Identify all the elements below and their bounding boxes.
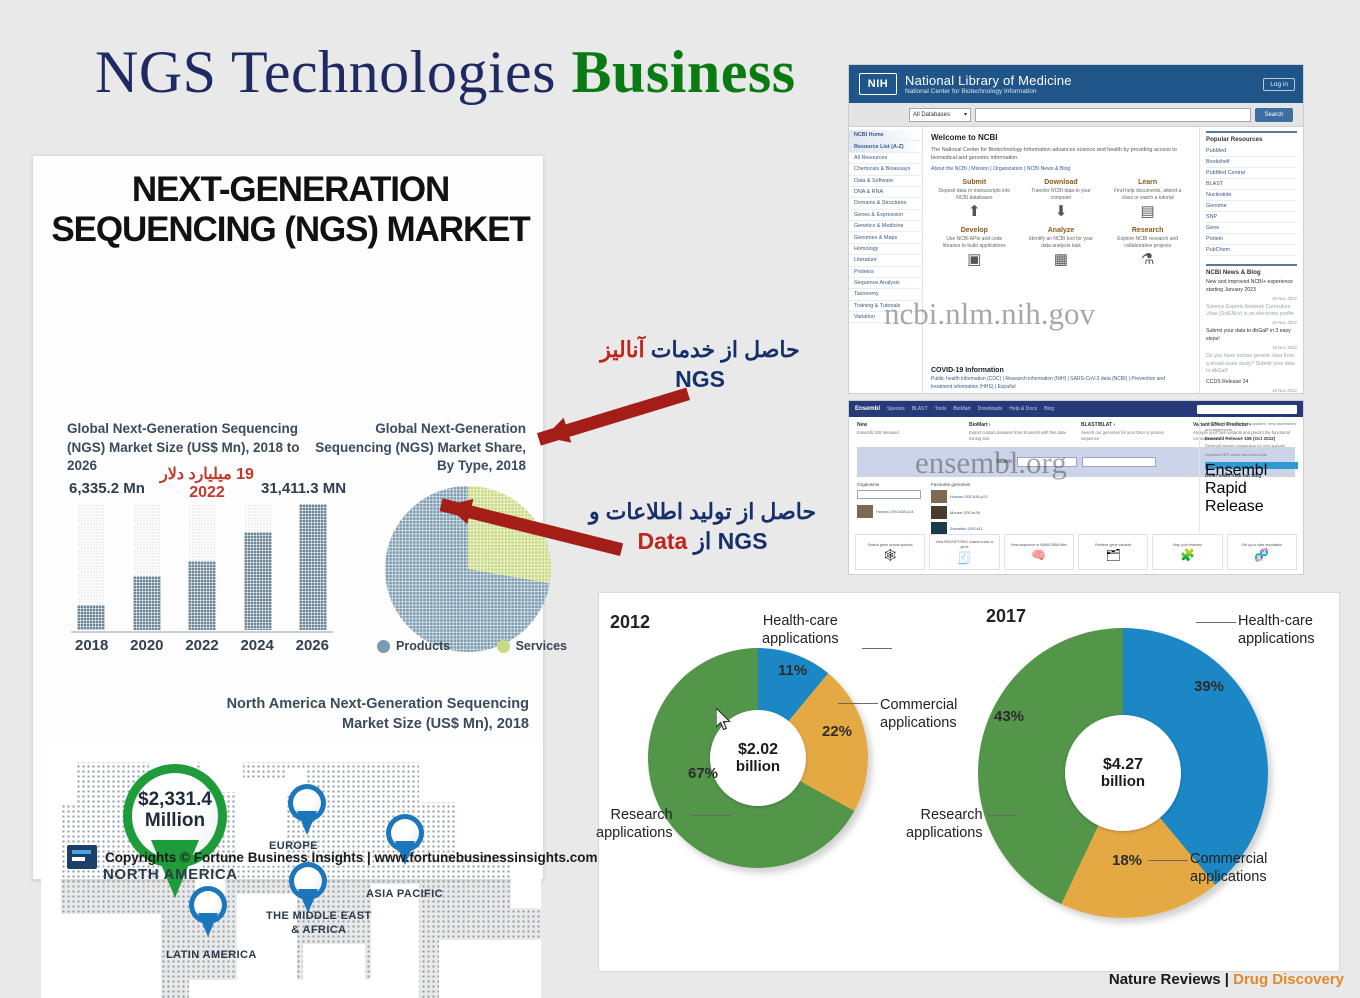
- pin-tip-icon: [198, 913, 218, 937]
- pie-chart-subtitle: Global Next-Generation Sequencing (NGS) …: [301, 420, 526, 476]
- ncbi-action-grid: Submit Deposit data or manuscripts into …: [931, 179, 1191, 275]
- pin-tip-icon: [297, 811, 317, 835]
- pie-2017-leader-research: [986, 815, 1016, 816]
- favourite-label: Zebrafish GRCz11: [950, 526, 983, 531]
- col-heading: New: [857, 422, 959, 428]
- nih-logo-icon: NIH: [859, 73, 897, 95]
- map-pin-europe: [288, 784, 326, 836]
- ncbi-covid-section: COVID-19 Information Public health infor…: [931, 367, 1185, 391]
- x-label-2022: 2022: [185, 637, 218, 654]
- pie-2012-research-pct: 67%: [688, 765, 718, 782]
- slide-root: NGS Technologies Business NEXT-GENERATIO…: [0, 0, 1360, 998]
- card-title: Get up-to-date annotation: [1239, 543, 1284, 548]
- ensembl-species-panel: Organisms Human GRCh38.p13: [857, 482, 921, 526]
- mouse-cursor-icon: [716, 708, 732, 732]
- ensembl-card[interactable]: Get up-to-date annotation 🧬: [1227, 534, 1297, 570]
- species-thumbnail-icon: [857, 505, 873, 518]
- pie-2012-leader-research: [690, 815, 732, 816]
- card-title: Search gene across species: [866, 543, 915, 548]
- source-journal: Nature Reviews |: [1109, 971, 1233, 988]
- ensembl-card[interactable]: Search gene across species 🕸: [855, 534, 925, 570]
- chevron-down-icon: ▾: [964, 111, 967, 118]
- network-icon: 🕸: [883, 549, 898, 561]
- bar-2022: [188, 504, 216, 630]
- book-icon: ▤: [1104, 204, 1191, 219]
- ensembl-card[interactable]: View BED/GFF/WIG custom track or gene 🧾: [929, 534, 999, 570]
- popular-item-nucleotide[interactable]: Nucleotide: [1206, 190, 1297, 201]
- covid-links[interactable]: Public health information (CDC) | Resear…: [931, 376, 1185, 391]
- ncbi-action-download[interactable]: Download Transfer NCBI data to your comp…: [1018, 179, 1105, 219]
- bar-fill: [77, 605, 105, 630]
- news-item[interactable]: New and improved NCBI+ experience starti…: [1206, 279, 1297, 295]
- bar-fill: [133, 576, 161, 630]
- map-pin-latin-america: [189, 886, 227, 938]
- ensembl-menu-species[interactable]: Species: [887, 406, 905, 412]
- sidebar-item-genomes-maps[interactable]: Genomes & Maps: [849, 232, 922, 243]
- action-desc: Use NCBI APIs and code libraries to buil…: [931, 236, 1018, 250]
- col-body: Ensembl 108 released: [857, 430, 959, 436]
- x-label-2026: 2026: [296, 637, 329, 654]
- pie-2012-healthcare-pct: 11%: [778, 662, 807, 679]
- action-title: Analyze: [1018, 227, 1105, 234]
- pie-2012-callout-research: Research applications: [596, 806, 673, 842]
- ncbi-action-develop[interactable]: Develop Use NCBI APIs and code libraries…: [931, 227, 1018, 267]
- region-label-latin-america: LATIN AMERICA: [166, 949, 257, 963]
- popular-item-blast[interactable]: BLAST: [1206, 179, 1297, 190]
- sidebar-item-chemicals-bioassays[interactable]: Chemicals & Bioassays: [849, 164, 922, 175]
- pie-2012-commercial-pct: 22%: [822, 723, 852, 740]
- popular-item-genome[interactable]: Genome: [1206, 201, 1297, 212]
- market-size-bar-chart: [77, 504, 327, 630]
- arrow-head-icon: [541, 418, 572, 450]
- pie-2012-callout-commercial: Commercial applications: [880, 696, 957, 732]
- code-icon: ▣: [931, 252, 1018, 267]
- annotation-2-az: از: [694, 528, 712, 554]
- chart-icon: ▦: [1018, 252, 1105, 267]
- center-unit: billion: [736, 759, 780, 776]
- center-amount: $4.27: [1103, 756, 1143, 774]
- north-america-value: $2,331.4 Million: [133, 790, 217, 832]
- action-desc: Find help documents, attend a class or w…: [1104, 188, 1191, 202]
- ncbi-welcome-links[interactable]: About the NCBI | Mission | Organization …: [931, 166, 1191, 172]
- ensembl-col-new: New Ensembl 108 released: [857, 422, 959, 442]
- news-date: 18 Nov 2022: [1206, 345, 1297, 350]
- popular-item-gene[interactable]: Gene: [1206, 223, 1297, 234]
- pie-2012: $2.02 billion: [648, 648, 868, 868]
- ensembl-menu-downloads[interactable]: Downloads: [978, 406, 1003, 412]
- ncbi-search-button[interactable]: Search: [1255, 108, 1293, 122]
- pie-2012-year-label: 2012: [610, 612, 650, 633]
- card-title: View sequence or BAM/CRAM files: [1009, 543, 1069, 548]
- ncbi-search-bar: All Databases ▾ Search: [849, 103, 1303, 127]
- col-body: Export custom datasets from Ensembl with…: [969, 430, 1071, 443]
- ensembl-favourites-panel: Favourite genomes Human GRCh38.p13 Mouse…: [931, 482, 987, 526]
- sequence-icon: 🧠: [1031, 549, 1046, 561]
- favourite-label: Mouse GRCm39: [950, 510, 980, 515]
- ensembl-logo: Ensembl: [855, 406, 880, 412]
- ensembl-rapid-release-banner[interactable]: Ensembl Rapid Release: [1205, 462, 1298, 469]
- ncbi-sidebar: NCBI Home Resource List (A-Z) All Resour…: [849, 127, 923, 394]
- center-unit: billion: [1101, 774, 1145, 791]
- ensembl-menu-blog[interactable]: Blog: [1044, 406, 1054, 412]
- nature-reviews-source: Nature Reviews | Drug Discovery: [1109, 971, 1344, 988]
- annotation-1-line-2: NGS: [565, 365, 835, 395]
- sidebar-item-variation[interactable]: Variation: [849, 312, 922, 323]
- card-title: View BED/GFF/WIG custom track or gene: [930, 540, 998, 549]
- nih-org-title: National Library of Medicine: [905, 73, 1072, 88]
- x-label-2018: 2018: [75, 637, 108, 654]
- persian-market-note: 19 میلیارد دلار 2022: [155, 466, 259, 503]
- x-label-2020: 2020: [130, 637, 163, 654]
- flask-icon: ⚗: [1104, 252, 1191, 267]
- action-desc: Identify an NCBI tool for your data anal…: [1018, 236, 1105, 250]
- action-desc: Transfer NCBI data to your computer: [1018, 188, 1105, 202]
- sidebar-item-dna-rna[interactable]: DNA & RNA: [849, 187, 922, 198]
- map-subtitle: North America Next-Generation Sequencing…: [199, 694, 529, 734]
- card-title: Retrieve gene variants: [1093, 543, 1133, 548]
- news-item[interactable]: Submit your data to dbGaP in 3 easy step…: [1206, 328, 1297, 344]
- release-intro: Gene and regulatory data updates, new as…: [1205, 421, 1298, 433]
- news-blog-heading: NCBI News & Blog: [1206, 264, 1297, 276]
- ncbi-right-panel: Popular Resources PubMed Bookshelf PubMe…: [1199, 127, 1303, 394]
- favourites-heading: Favourite genomes: [931, 482, 987, 487]
- world-dot-map: $2,331.4 Million NORTH AMERICA E: [41, 744, 541, 998]
- ncbi-action-learn[interactable]: Learn Find help documents, attend a clas…: [1104, 179, 1191, 219]
- species-select[interactable]: [857, 490, 921, 499]
- release-bullet: Updated VEP cache and new tools: [1205, 452, 1298, 458]
- annotation-icon: 🧬: [1254, 549, 1269, 561]
- pie-2012-callout-healthcare: Health-care applications: [762, 612, 839, 648]
- news-item[interactable]: Science Experts Network Curriculum Vitae…: [1206, 304, 1297, 320]
- bar-value-start: 6,335.2 Mn: [69, 480, 145, 497]
- annotation-analysis-services: حاصل از خدمات آنالیز NGS: [565, 336, 835, 394]
- ncbi-database-value: All Databases: [913, 112, 950, 118]
- pie-2017-callout-healthcare: Health-care applications: [1238, 612, 1315, 648]
- ncbi-login-button[interactable]: Log in: [1263, 78, 1295, 91]
- sidebar-item-sequence-analysis[interactable]: Sequence Analysis: [849, 278, 922, 289]
- popular-item-protein[interactable]: Protein: [1206, 234, 1297, 245]
- ensembl-menu-blast[interactable]: BLAST: [912, 406, 928, 412]
- annotation-2-data: Data: [638, 528, 688, 554]
- species-heading: Organisms: [857, 482, 921, 487]
- annotation-1-highlight: آنالیز: [600, 337, 644, 362]
- bar-chart-axis: [71, 631, 333, 633]
- ncbi-action-analyze[interactable]: Analyze Identify an NCBI tool for your d…: [1018, 227, 1105, 267]
- popular-item-pubmed[interactable]: PubMed: [1206, 146, 1297, 157]
- persian-note-line-2: 2022: [155, 484, 259, 502]
- covid-heading: COVID-19 Information: [931, 367, 1185, 374]
- ncbi-search-input[interactable]: [975, 108, 1251, 122]
- bar-fill: [188, 561, 216, 630]
- region-label-asia-pacific: ASIA PACIFIC: [366, 888, 443, 902]
- action-title: Research: [1104, 227, 1191, 234]
- sidebar-item-genetics-medicine[interactable]: Genetics & Medicine: [849, 221, 922, 232]
- bar-2020: [133, 504, 161, 630]
- ensembl-card[interactable]: Map your features 🧩: [1152, 534, 1222, 570]
- sidebar-item-proteins[interactable]: Proteins: [849, 267, 922, 278]
- pie-2017-year-label: 2017: [986, 606, 1026, 627]
- variants-icon: 🗂: [1106, 549, 1121, 561]
- map-features-icon: 🧩: [1180, 549, 1195, 561]
- popular-item-bookshelf[interactable]: Bookshelf: [1206, 157, 1297, 168]
- sidebar-item-literature[interactable]: Literature: [849, 255, 922, 266]
- bar-fill: [299, 504, 327, 630]
- favourite-label: Human GRCh38.p13: [950, 494, 987, 499]
- ensembl-right-panel: Gene and regulatory data updates, new as…: [1199, 417, 1303, 533]
- popular-item-pubmed-central[interactable]: PubMed Central: [1206, 168, 1297, 179]
- ncbi-welcome-text: The National Center for Biotechnology In…: [931, 146, 1191, 163]
- ensembl-header: Ensembl Species BLAST Tools BioMart Down…: [849, 401, 1303, 417]
- pie-2017-leader-commercial: [1148, 860, 1188, 861]
- news-date: 28 Nov 2022: [1206, 296, 1297, 301]
- download-icon: ⬇: [1018, 204, 1105, 219]
- species-name[interactable]: Human GRCh38.p13: [876, 509, 913, 514]
- action-title: Download: [1018, 179, 1105, 186]
- source-section: Drug Discovery: [1233, 971, 1344, 988]
- copyright-text: Copyrights © Fortune Business Insights |…: [105, 850, 598, 865]
- pie-2017-leader-healthcare: [1196, 622, 1236, 623]
- sidebar-item-resource-list[interactable]: Resource List (A-Z): [849, 141, 922, 152]
- legend-label-products: Products: [396, 639, 450, 653]
- upload-icon: ⬆: [931, 204, 1018, 219]
- pie-2017-research-pct: 43%: [994, 708, 1024, 725]
- bar-chart-x-labels: 2018 2020 2022 2024 2026: [75, 637, 329, 654]
- pie-2017-callout-commercial: Commercial applications: [1190, 850, 1267, 886]
- center-amount: $2.02: [738, 741, 778, 759]
- ncbi-body: NCBI Home Resource List (A-Z) All Resour…: [849, 127, 1303, 394]
- sidebar-item-genes-expression[interactable]: Genes & Expression: [849, 210, 922, 221]
- ncbi-main-content: Welcome to NCBI The National Center for …: [923, 127, 1199, 394]
- col-heading: BioMart ›: [969, 422, 1071, 428]
- ensembl-menu-biomart[interactable]: BioMart: [953, 406, 970, 412]
- news-date: 10 Nov 2022: [1206, 388, 1297, 393]
- release-heading: Ensembl Release 108 (Oct 2022): [1205, 436, 1298, 441]
- sidebar-item-taxonomy[interactable]: Taxonomy: [849, 289, 922, 300]
- annotation-1-line-1: حاصل از خدمات آنالیز: [565, 336, 835, 365]
- news-date: 22 Nov 2022: [1206, 320, 1297, 325]
- sidebar-item-homology[interactable]: Homology: [849, 244, 922, 255]
- pie-2012-leader-commercial: [838, 703, 878, 704]
- value-unit: Million: [133, 811, 217, 832]
- news-item[interactable]: CCDS Release 24: [1206, 379, 1297, 387]
- legend-item-services: Services: [497, 639, 567, 653]
- pie-2012-leader-healthcare: [862, 648, 892, 649]
- ncbi-welcome-heading: Welcome to NCBI: [931, 133, 1191, 142]
- legend-swatch-icon: [377, 640, 390, 653]
- title-part-business: Business: [572, 39, 796, 105]
- news-item[interactable]: Do you have human genetic data from a br…: [1206, 353, 1297, 376]
- species-thumbnail-icon: [931, 506, 947, 519]
- sidebar-item-training-tutorials[interactable]: Training & Tutorials: [849, 301, 922, 312]
- pie-2017-callout-research: Research applications: [906, 806, 983, 842]
- col-heading: BLAST/BLAT ›: [1081, 422, 1183, 428]
- ensembl-search-label: Search: [996, 459, 1012, 465]
- pie-2017-commercial-pct: 18%: [1112, 852, 1142, 869]
- bar-value-end: 31,411.3 MN: [261, 480, 346, 497]
- ensembl-col-biomart[interactable]: BioMart › Export custom datasets from En…: [969, 422, 1071, 442]
- ensembl-website-screenshot[interactable]: Ensembl Species BLAST Tools BioMart Down…: [848, 400, 1304, 575]
- title-part-technologies: NGS Technologies: [95, 39, 572, 105]
- annotation-2-ngs: NGS: [718, 528, 768, 554]
- sidebar-item-ncbi-home[interactable]: NCBI Home: [849, 130, 922, 141]
- popular-item-pubchem[interactable]: PubChem: [1206, 245, 1297, 256]
- action-desc: Deposit data or manuscripts into NCBI da…: [931, 188, 1018, 202]
- sidebar-item-domains-structures[interactable]: Domains & Structures: [849, 198, 922, 209]
- ensembl-card[interactable]: View sequence or BAM/CRAM files 🧠: [1004, 534, 1074, 570]
- action-desc: Explore NCBI research and collaborative …: [1104, 236, 1191, 250]
- ensembl-col-blast[interactable]: BLAST/BLAT › Search our genomes for your…: [1081, 422, 1183, 442]
- ensembl-card[interactable]: Retrieve gene variants 🗂: [1078, 534, 1148, 570]
- popular-resources-heading: Popular Resources: [1206, 131, 1297, 143]
- legend-label-services: Services: [516, 639, 567, 653]
- track-icon: 🧾: [957, 552, 972, 564]
- ensembl-band-select[interactable]: [1017, 457, 1077, 467]
- favourite-row[interactable]: Human GRCh38.p13: [931, 490, 987, 503]
- card-title: Map your features: [1171, 543, 1204, 548]
- pie-2017-healthcare-pct: 39%: [1194, 678, 1224, 695]
- ensembl-search-input[interactable]: [1197, 405, 1297, 414]
- persian-note-line-1: 19 میلیارد دلار: [155, 466, 259, 484]
- bar-2026: [299, 504, 327, 630]
- ensembl-menu-help[interactable]: Help & Docs: [1009, 406, 1037, 412]
- release-bullet: Refseq/Ensembl comparison for new specie…: [1205, 443, 1298, 449]
- pie-legend: Products Services: [377, 639, 567, 653]
- blog-heading: Other news from our blog: [1205, 473, 1298, 478]
- popular-item-snp[interactable]: SNP: [1206, 212, 1297, 223]
- map-pin-middle-east-africa: [289, 862, 327, 914]
- page-title: NGS Technologies Business: [95, 38, 796, 107]
- pie-2017-center-label: $4.27 billion: [1065, 715, 1181, 831]
- action-title: Develop: [931, 227, 1018, 234]
- fortune-business-insights-logo-icon: [67, 845, 97, 869]
- ncbi-action-research[interactable]: Research Explore NCBI research and colla…: [1104, 227, 1191, 267]
- legend-swatch-icon: [497, 640, 510, 653]
- bar-fill: [244, 532, 272, 630]
- nih-org-subtitle: National Center for Biotechnology Inform…: [905, 88, 1072, 95]
- species-thumbnail-icon: [931, 490, 947, 503]
- ensembl-menu-tools[interactable]: Tools: [935, 406, 947, 412]
- ncbi-header: NIH National Library of Medicine Nationa…: [849, 65, 1303, 103]
- infographic-headline: NEXT-GENERATION SEQUENCING (NGS) MARKET: [43, 170, 538, 250]
- legend-item-products: Products: [377, 639, 450, 653]
- bar-2018: [77, 504, 105, 630]
- value-amount: $2,331.4: [133, 790, 217, 811]
- ncbi-action-submit[interactable]: Submit Deposit data or manuscripts into …: [931, 179, 1018, 219]
- sidebar-item-data-software[interactable]: Data & Software: [849, 176, 922, 187]
- sidebar-item-all-resources[interactable]: All Resources: [849, 153, 922, 164]
- region-label-middle-east-africa: THE MIDDLE EAST & AFRICA: [266, 910, 372, 938]
- ncbi-database-select[interactable]: All Databases ▾: [909, 108, 971, 122]
- action-title: Learn: [1104, 179, 1191, 186]
- annotation-2-line-1: حاصل از تولید اطلاعات و: [565, 498, 840, 527]
- ensembl-band-input[interactable]: [1082, 457, 1156, 467]
- ncbi-website-screenshot[interactable]: NIH National Library of Medicine Nationa…: [848, 64, 1304, 394]
- x-label-2024: 2024: [240, 637, 273, 654]
- favourite-row[interactable]: Mouse GRCm39: [931, 506, 987, 519]
- infographic-footer: Copyrights © Fortune Business Insights |…: [33, 845, 545, 869]
- bar-2024: [244, 504, 272, 630]
- col-body: Search our genomes for your DNA or prote…: [1081, 430, 1183, 443]
- ensembl-bottom-cards: Search gene across species 🕸 View BED/GF…: [855, 534, 1297, 570]
- action-title: Submit: [931, 179, 1018, 186]
